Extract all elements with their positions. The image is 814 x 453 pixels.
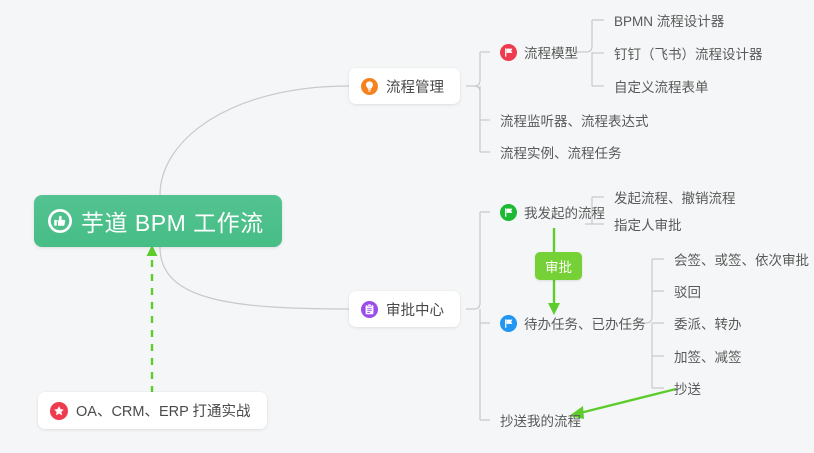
link-root-to-approval-center: [160, 247, 349, 309]
node-my-started-process-label: 我发起的流程: [524, 202, 605, 222]
flag-icon: [500, 204, 517, 221]
node-reject[interactable]: 驳回: [664, 276, 709, 306]
node-process-model[interactable]: 流程模型: [490, 37, 586, 67]
node-custom-process-form[interactable]: 自定义流程表单: [604, 71, 717, 101]
node-countersign[interactable]: 会签、或签、依次审批: [664, 244, 814, 274]
node-approval-center[interactable]: 审批中心: [349, 291, 460, 327]
link-spine-model-top: [586, 20, 592, 52]
node-process-management[interactable]: 流程管理: [349, 68, 460, 104]
node-cc-label: 抄送: [674, 378, 701, 398]
link-spine-pm-top: [474, 52, 480, 86]
node-delegate-transfer[interactable]: 委派、转办: [664, 308, 750, 338]
node-cc-to-me-process[interactable]: 抄送我的流程: [490, 405, 589, 435]
node-process-management-label: 流程管理: [386, 76, 444, 97]
node-bpmn-designer-label: BPMN 流程设计器: [614, 10, 724, 30]
node-instance-task-label: 流程实例、流程任务: [500, 142, 622, 162]
node-todo-done-task[interactable]: 待办任务、已办任务: [490, 308, 654, 338]
lightbulb-icon: [361, 78, 378, 95]
clipboard-icon: [361, 301, 378, 318]
node-reject-label: 驳回: [674, 281, 701, 301]
node-dingtalk-feishu-designer[interactable]: 钉钉（飞书）流程设计器: [604, 38, 771, 68]
node-add-remove-sign[interactable]: 加签、减签: [664, 341, 750, 371]
node-custom-process-form-label: 自定义流程表单: [614, 76, 709, 96]
node-assignee-approval[interactable]: 指定人审批: [604, 209, 690, 239]
root-label: 芋道 BPM 工作流: [81, 204, 264, 238]
flag-icon: [500, 315, 517, 332]
link-spine-pm-join: [474, 86, 480, 92]
link-root-to-process-management: [160, 86, 349, 195]
star-icon: [50, 402, 68, 420]
node-my-started-process[interactable]: 我发起的流程: [490, 197, 613, 227]
approval-tag-label: 审批: [545, 256, 572, 276]
node-start-cancel-process-label: 发起流程、撤销流程: [614, 187, 736, 207]
node-cc-to-me-process-label: 抄送我的流程: [500, 410, 581, 430]
node-countersign-label: 会签、或签、依次审批: [674, 249, 809, 269]
root-node[interactable]: 芋道 BPM 工作流: [34, 195, 282, 247]
node-oa-crm-erp[interactable]: OA、CRM、ERP 打通实战: [38, 392, 267, 429]
solid-arrow-left-line: [580, 389, 676, 413]
node-instance-task[interactable]: 流程实例、流程任务: [490, 137, 630, 167]
flag-icon: [500, 44, 517, 61]
node-cc[interactable]: 抄送: [664, 373, 709, 403]
approval-tag[interactable]: 审批: [535, 252, 582, 280]
link-spine-ac-top: [474, 212, 480, 309]
node-approval-center-label: 审批中心: [386, 299, 444, 320]
node-bpmn-designer[interactable]: BPMN 流程设计器: [604, 5, 732, 35]
node-add-remove-sign-label: 加签、减签: [674, 346, 742, 366]
node-start-cancel-process[interactable]: 发起流程、撤销流程: [604, 182, 744, 212]
node-listener-expression-label: 流程监听器、流程表达式: [500, 110, 649, 130]
node-assignee-approval-label: 指定人审批: [614, 214, 682, 234]
node-listener-expression[interactable]: 流程监听器、流程表达式: [490, 105, 657, 135]
node-delegate-transfer-label: 委派、转办: [674, 313, 742, 333]
node-process-model-label: 流程模型: [524, 42, 578, 62]
mindmap-canvas: 芋道 BPM 工作流 流程管理 流程模型 BPMN 流程设计器 钉钉（飞书）流程…: [0, 0, 814, 453]
node-dingtalk-feishu-designer-label: 钉钉（飞书）流程设计器: [614, 43, 763, 63]
node-todo-done-task-label: 待办任务、已办任务: [524, 313, 646, 333]
thumbs-up-icon: [48, 209, 72, 233]
node-oa-crm-erp-label: OA、CRM、ERP 打通实战: [76, 400, 251, 421]
